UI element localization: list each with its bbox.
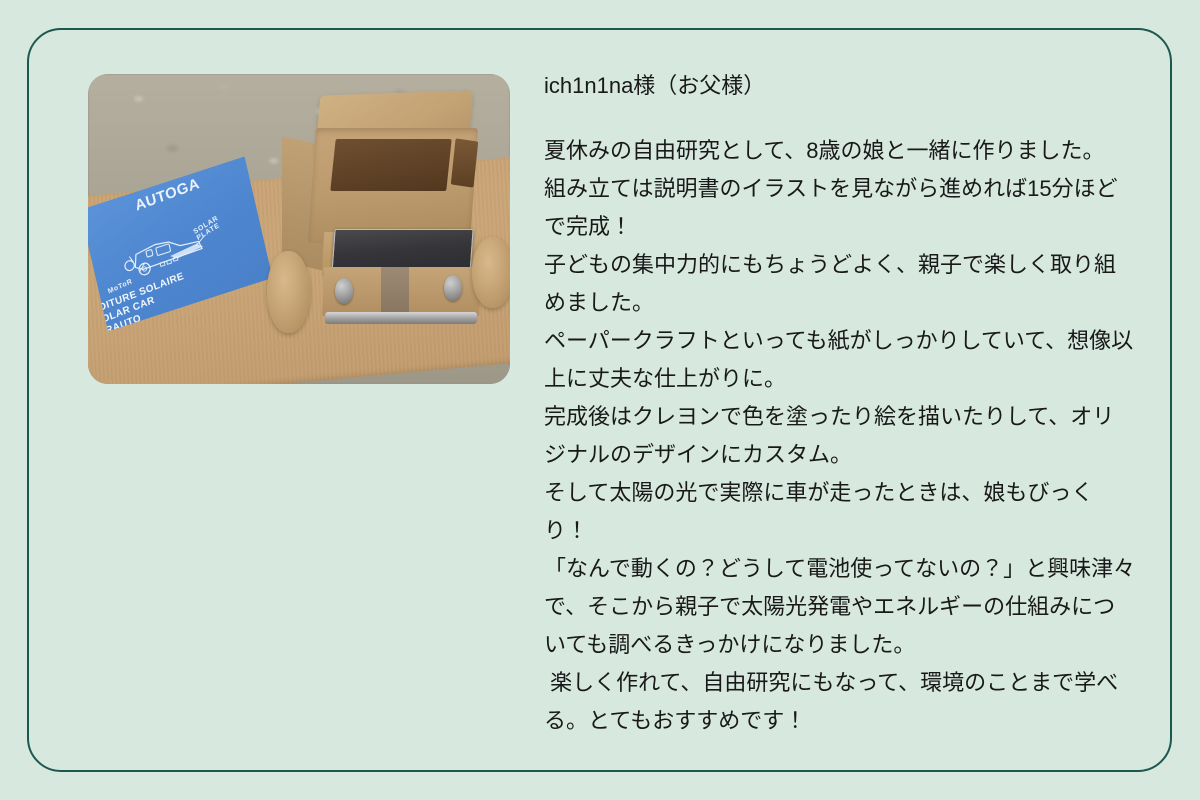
review-photo: AUTOGA MoToR SOLAR PL <box>88 74 510 384</box>
car-windshield <box>330 139 452 191</box>
review-card: AUTOGA MoToR SOLAR PL <box>27 28 1172 772</box>
paper-solar-car <box>257 93 510 366</box>
car-bumper <box>325 312 477 324</box>
reviewer-name: ich1n1na様（お父様） <box>544 70 1136 102</box>
car-wheel-front-left <box>267 251 310 333</box>
car-wheel-front-right <box>472 237 510 308</box>
car-headlight-left <box>335 278 353 304</box>
review-body-text: 夏休みの自由研究として、8歳の娘と一緒に作りました。 組み立ては説明書のイラスト… <box>544 132 1136 740</box>
photo-image: AUTOGA MoToR SOLAR PL <box>88 74 510 384</box>
car-headlight-right <box>444 275 462 301</box>
review-text-block: ich1n1na様（お父様） 夏休みの自由研究として、8歳の娘と一緒に作りました… <box>544 70 1136 740</box>
car-grille <box>381 267 409 316</box>
